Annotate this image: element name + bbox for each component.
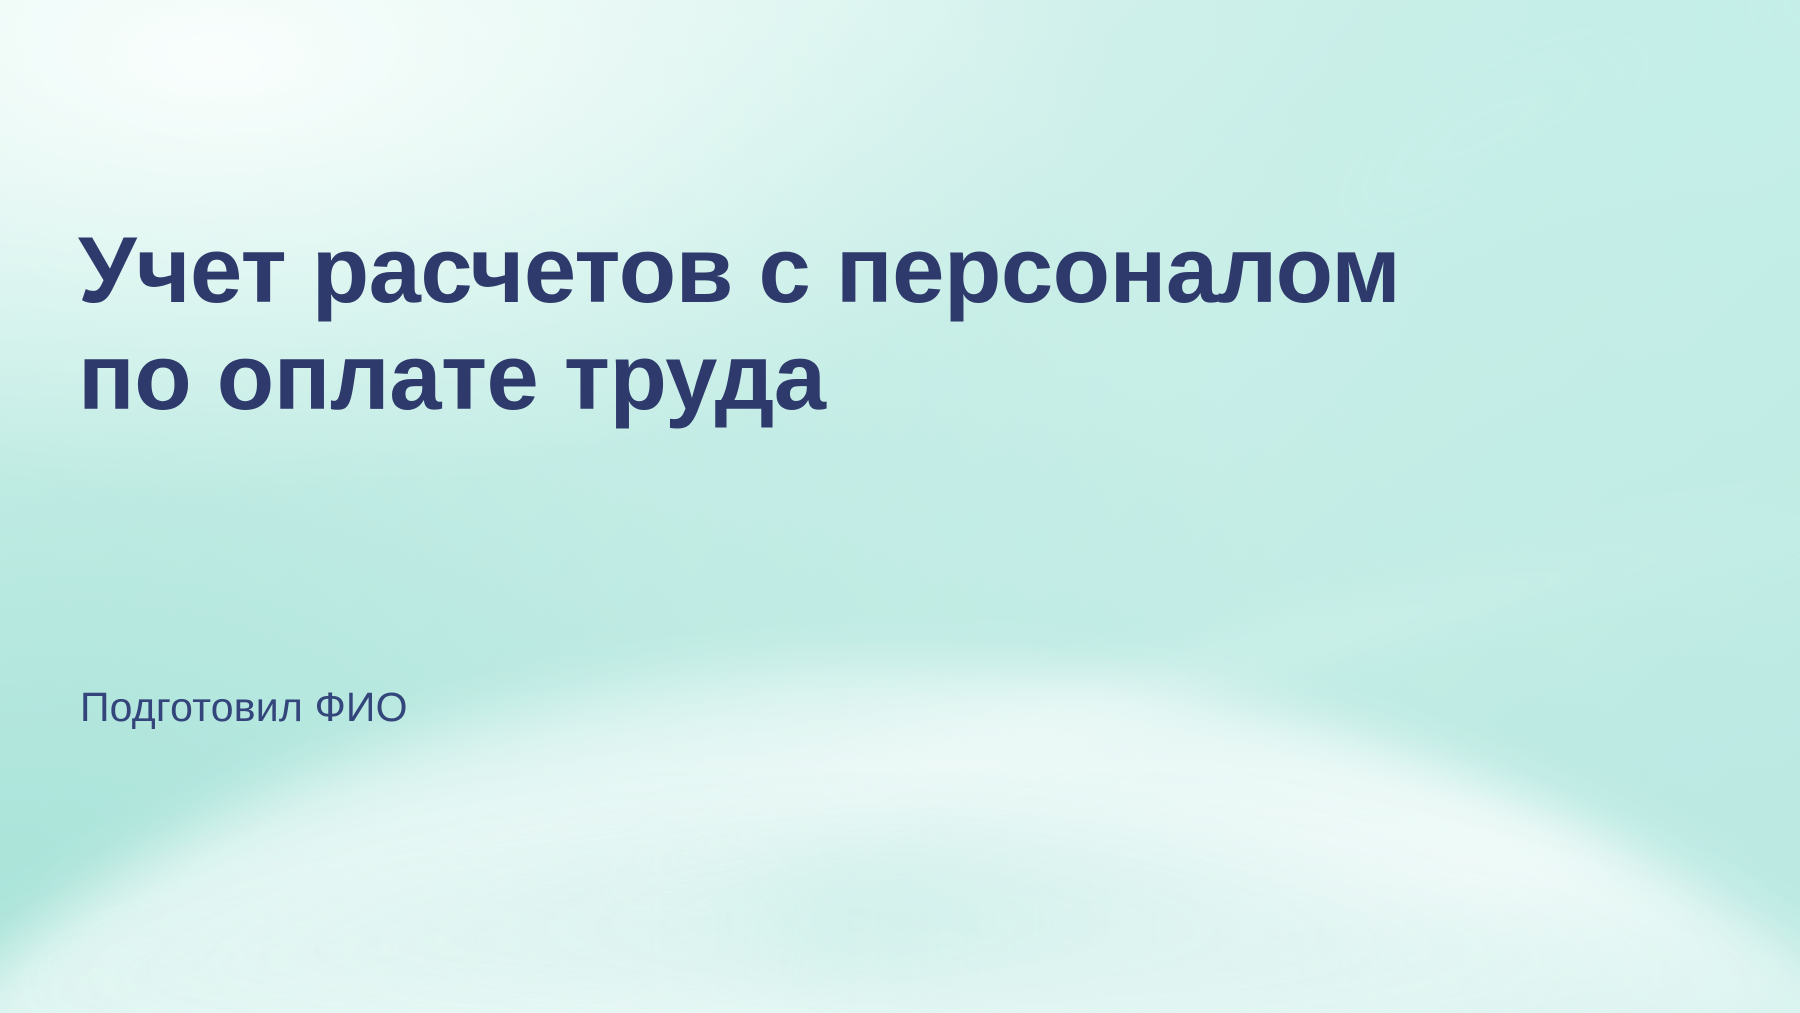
slide-subtitle-author: Подготовил ФИО — [80, 683, 408, 731]
page-title: Учет расчетов с персоналом по оплате тру… — [78, 216, 1538, 430]
slide-content: Учет расчетов с персоналом по оплате тру… — [78, 0, 1578, 1013]
title-slide: Учет расчетов с персоналом по оплате тру… — [0, 0, 1800, 1013]
